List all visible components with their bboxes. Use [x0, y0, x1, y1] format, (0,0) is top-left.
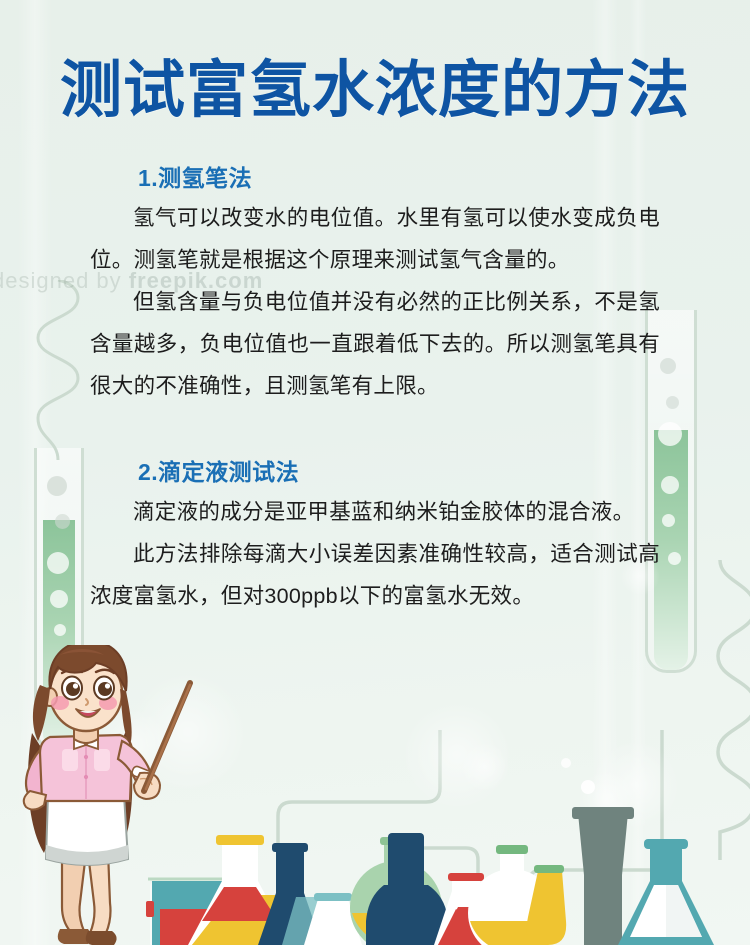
section-2-paragraph-1: 滴定液的成分是亚甲基蓝和纳米铂金胶体的混合液。: [90, 491, 660, 533]
content-area: 测试富氢水浓度的方法 1.测氢笔法 氢气可以改变水的电位值。水里有氢可以使水变成…: [0, 0, 750, 617]
steam-bubble: [581, 780, 595, 794]
section-1-paragraph-1: 氢气可以改变水的电位值。水里有氢可以使水变成负电位。测氢笔就是根据这个原理来测试…: [90, 197, 660, 281]
page-title: 测试富氢水浓度的方法: [0, 0, 750, 123]
flask-teal: [618, 839, 714, 945]
section-heading-2: 2.滴定液测试法: [138, 453, 660, 487]
article-body: 1.测氢笔法 氢气可以改变水的电位值。水里有氢可以使水变成负电位。测氢笔就是根据…: [90, 123, 660, 617]
section-1-paragraph-2: 但氢含量与负电位值并没有必然的正比例关系，不是氢含量越多，负电位值也一直跟着低下…: [90, 281, 660, 407]
bubble: [54, 624, 66, 636]
section-heading-1: 1.测氢笔法: [138, 159, 660, 193]
bottom-illustration: [0, 645, 750, 945]
poster-root: designed by freepik.com 测试富氢水浓度的方法 1.测氢笔…: [0, 0, 750, 945]
section-2-paragraph-2: 此方法排除每滴大小误差因素准确性较高，适合测试高浓度富氢水，但对300ppb以下…: [90, 533, 660, 617]
cylinder-grey: [572, 807, 634, 945]
steam-bubble: [561, 758, 571, 768]
